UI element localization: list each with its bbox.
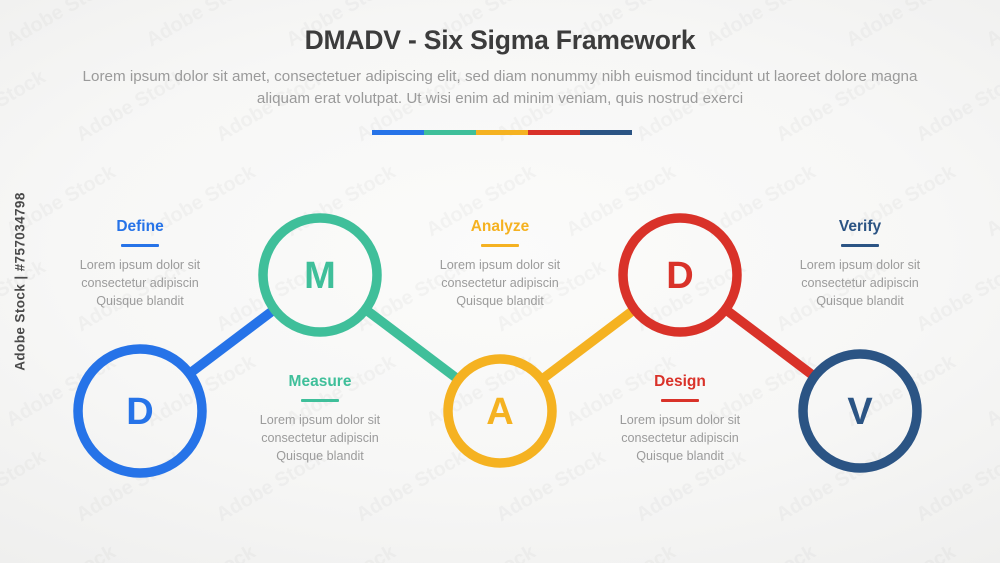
connector-measure-to-analyze xyxy=(364,308,460,381)
infographic-canvas: Adobe StockAdobe StockAdobe StockAdobe S… xyxy=(0,0,1000,563)
stage-rule-design xyxy=(661,399,699,402)
stage-rule-measure xyxy=(301,399,339,402)
stage-heading-analyze: Analyze xyxy=(400,218,600,235)
stage-rule-verify xyxy=(841,244,879,247)
stage-description-measure: Lorem ipsum dolor sit consectetur adipis… xyxy=(220,412,420,466)
stage-block-define: Define Lorem ipsum dolor sit consectetur… xyxy=(40,218,240,311)
stage-block-measure: Measure Lorem ipsum dolor sit consectetu… xyxy=(220,373,420,466)
stage-letter-verify: V xyxy=(847,391,873,433)
stage-block-design: Design Lorem ipsum dolor sit consectetur… xyxy=(580,373,780,466)
stage-letter-define: D xyxy=(126,391,153,433)
connector-analyze-to-design xyxy=(540,308,636,381)
stage-description-verify: Lorem ipsum dolor sit consectetur adipis… xyxy=(760,257,960,311)
stage-heading-measure: Measure xyxy=(220,373,420,390)
stage-description-design: Lorem ipsum dolor sit consectetur adipis… xyxy=(580,412,780,466)
stage-heading-define: Define xyxy=(40,218,240,235)
stage-block-verify: Verify Lorem ipsum dolor sit consectetur… xyxy=(760,218,960,311)
stage-heading-design: Design xyxy=(580,373,780,390)
stage-letter-design: D xyxy=(666,255,693,297)
connector-design-to-verify xyxy=(724,308,816,378)
stage-heading-verify: Verify xyxy=(760,218,960,235)
stage-block-analyze: Analyze Lorem ipsum dolor sit consectetu… xyxy=(400,218,600,311)
stage-description-define: Lorem ipsum dolor sit consectetur adipis… xyxy=(40,257,240,311)
stage-rule-analyze xyxy=(481,244,519,247)
stage-letter-measure: M xyxy=(304,255,336,297)
connector-define-to-measure xyxy=(188,308,276,375)
stage-rule-define xyxy=(121,244,159,247)
stage-letter-analyze: A xyxy=(486,391,513,433)
stage-description-analyze: Lorem ipsum dolor sit consectetur adipis… xyxy=(400,257,600,311)
